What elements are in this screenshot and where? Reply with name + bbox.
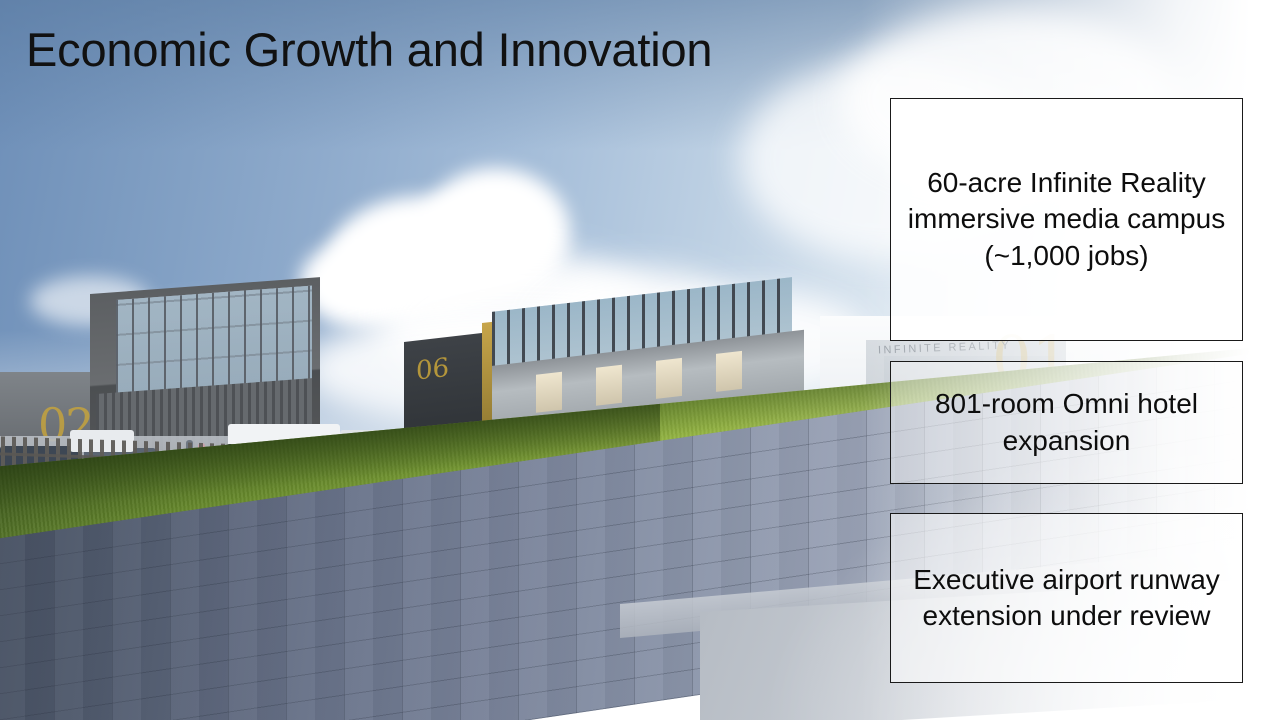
window bbox=[716, 351, 742, 392]
callout-text: Executive airport runway extension under… bbox=[903, 562, 1230, 635]
callout-text: 60-acre Infinite Reality immersive media… bbox=[903, 165, 1230, 274]
callout-text: 801-room Omni hotel expansion bbox=[903, 386, 1230, 459]
callout-box-airport-runway-extension: Executive airport runway extension under… bbox=[890, 513, 1243, 683]
window bbox=[536, 372, 562, 413]
slide-canvas: 02 06 01 INFINITE REA bbox=[0, 0, 1280, 720]
callout-box-omni-hotel-expansion: 801-room Omni hotel expansion bbox=[890, 361, 1243, 484]
window bbox=[656, 358, 682, 399]
signage-06: 06 bbox=[416, 353, 449, 387]
callout-box-infinite-reality-campus: 60-acre Infinite Reality immersive media… bbox=[890, 98, 1243, 341]
window bbox=[596, 365, 622, 406]
slide-title: Economic Growth and Innovation bbox=[26, 22, 712, 77]
